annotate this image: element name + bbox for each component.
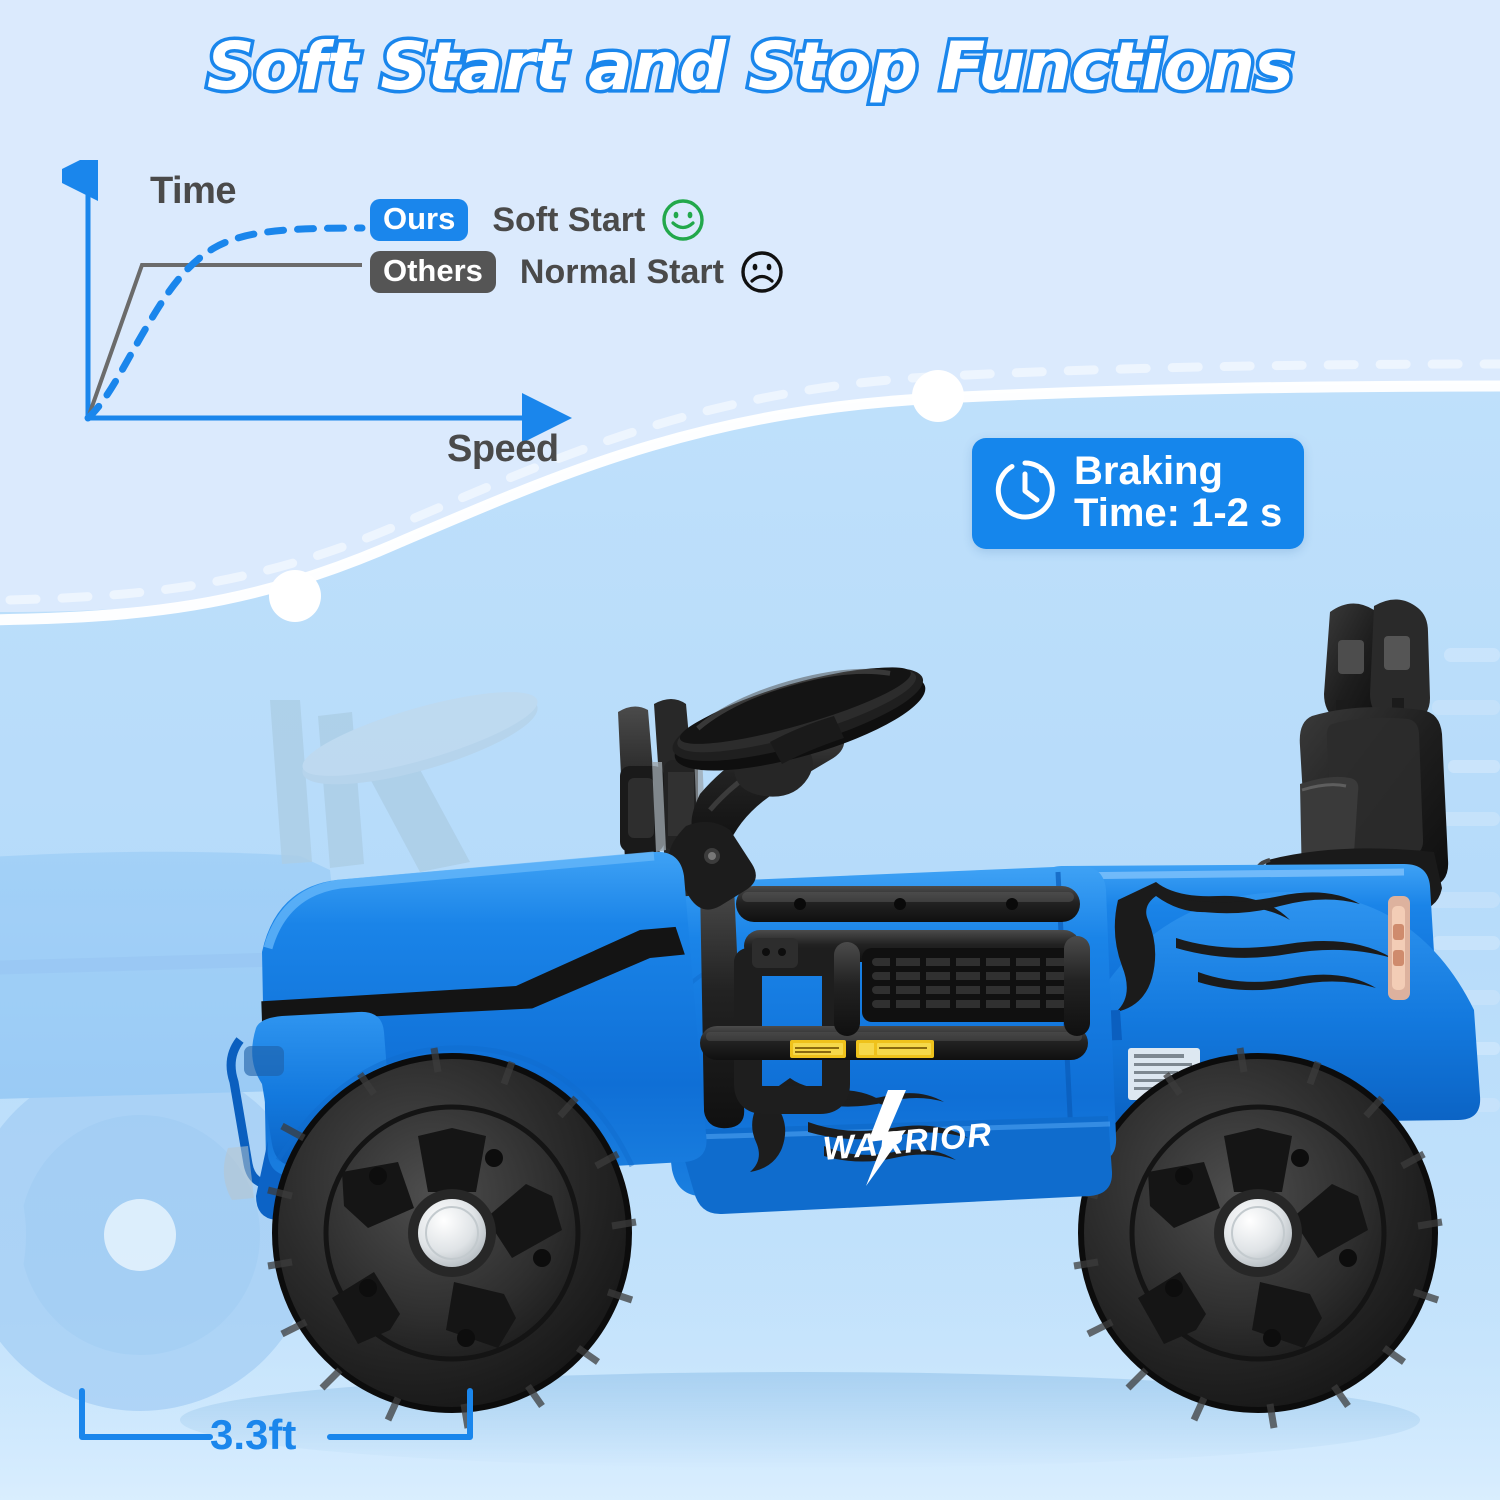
legend-badge-others: Others bbox=[370, 251, 496, 293]
warning-stickers bbox=[790, 1040, 934, 1058]
braking-line-1: Braking bbox=[1074, 449, 1223, 493]
legend-label-normal-start: Normal Start bbox=[520, 253, 724, 292]
y-axis-label: Time bbox=[150, 170, 236, 213]
series-others-line bbox=[88, 265, 362, 418]
smiley-sad-icon bbox=[740, 250, 784, 294]
legend-row-others: Others Normal Start bbox=[370, 250, 784, 294]
dimension-label: 3.3ft bbox=[210, 1411, 296, 1459]
braking-line-2: Time: 1-2 s bbox=[1074, 491, 1282, 535]
legend-badge-ours: Ours bbox=[370, 199, 468, 241]
braking-time-text: Braking Time: 1-2 s bbox=[1074, 450, 1282, 535]
infographic-canvas: Soft Start and Stop Functions Time Speed bbox=[0, 0, 1500, 1500]
chart-legend: Ours Soft Start Others Normal Start bbox=[370, 198, 784, 302]
tail-light bbox=[1388, 896, 1410, 1000]
mesh-panel bbox=[862, 948, 1090, 1022]
wheelbase-dimension: 3.3ft bbox=[60, 1385, 520, 1485]
series-ours-line bbox=[88, 228, 362, 418]
x-axis-label: Speed bbox=[447, 428, 559, 471]
page-title: Soft Start and Stop Functions bbox=[0, 28, 1500, 105]
clock-icon bbox=[992, 457, 1058, 528]
page-title-text: Soft Start and Stop Functions bbox=[207, 28, 1293, 105]
legend-label-soft-start: Soft Start bbox=[492, 201, 645, 240]
legend-row-ours: Ours Soft Start bbox=[370, 198, 784, 242]
braking-time-badge: Braking Time: 1-2 s bbox=[972, 438, 1304, 549]
smiley-happy-icon bbox=[661, 198, 705, 242]
